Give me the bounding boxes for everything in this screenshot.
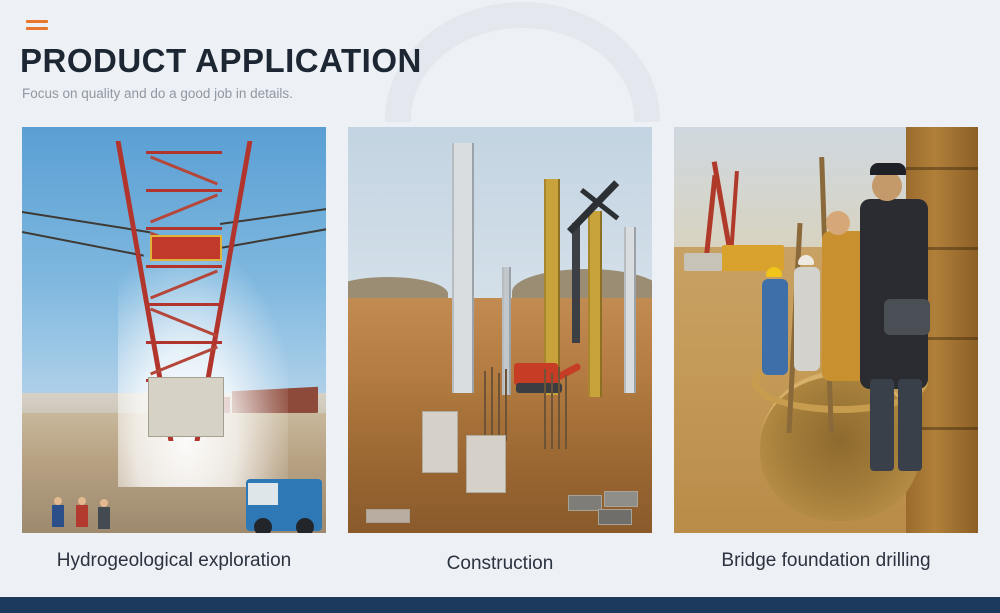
hamburger-icon[interactable] [26,20,48,34]
bridge-foundation-drilling-image [674,127,978,533]
page-title: PRODUCT APPLICATION [20,42,422,80]
application-card[interactable]: Hydrogeological exploration [22,127,326,575]
product-application-page: PRODUCT APPLICATION Focus on quality and… [0,0,1000,613]
decorative-arch-watermark [385,2,660,122]
application-card-caption: Construction [348,553,652,575]
application-card-caption: Hydrogeological exploration [22,550,326,572]
footer-bar [0,597,1000,613]
application-card[interactable]: Bridge foundation drilling [674,127,978,575]
application-card-caption: Bridge foundation drilling [674,550,978,572]
page-subtitle: Focus on quality and do a good job in de… [22,86,293,101]
application-card[interactable]: Construction [348,127,652,575]
application-card-list: Hydrogeological exploration [22,127,978,575]
construction-image [348,127,652,533]
hydrogeological-exploration-image [22,127,326,533]
